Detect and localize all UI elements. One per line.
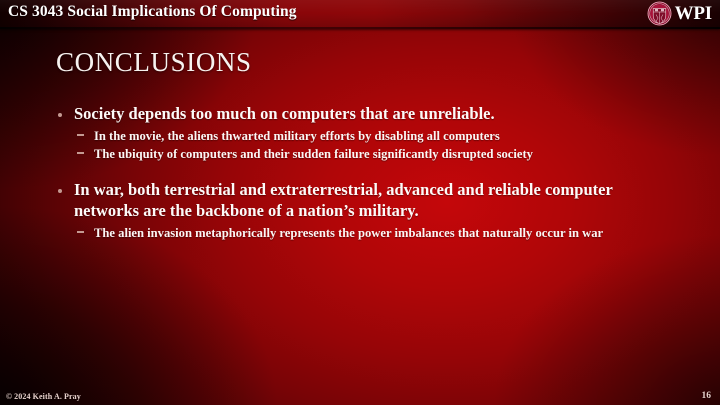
bullet-level2: In the movie, the aliens thwarted milita… xyxy=(56,128,680,145)
footer-page-number: 16 xyxy=(702,391,712,401)
slide-body: Society depends too much on computers th… xyxy=(56,104,680,251)
bullet-level2-group: In the movie, the aliens thwarted milita… xyxy=(56,128,680,162)
wpi-seal-icon xyxy=(647,1,672,26)
wpi-logo: WPI xyxy=(647,1,712,26)
bullet-level2-text: In the movie, the aliens thwarted milita… xyxy=(94,129,500,143)
bullet-level2-group: The alien invasion metaphorically repres… xyxy=(56,225,680,242)
bullet-spacer xyxy=(56,171,680,180)
presentation-slide: CS 3043 Social Implications Of Computing… xyxy=(0,0,720,405)
bullet-dash-icon xyxy=(77,134,84,136)
bullet-level1: In war, both terrestrial and extraterres… xyxy=(56,180,680,222)
bullet-level1: Society depends too much on computers th… xyxy=(56,104,680,125)
bullet-dot-icon xyxy=(58,189,62,193)
bullet-level1-text: Society depends too much on computers th… xyxy=(74,104,495,123)
bullet-level1-text: In war, both terrestrial and extraterres… xyxy=(74,180,612,220)
bullet-dot-icon xyxy=(58,113,62,117)
slide-header-bar: CS 3043 Social Implications Of Computing… xyxy=(0,0,720,29)
bullet-level2-text: The alien invasion metaphorically repres… xyxy=(94,226,603,240)
footer-copyright: © 2024 Keith A. Pray xyxy=(6,392,81,401)
bullet-dash-icon xyxy=(77,152,84,154)
bullet-level2-text: The ubiquity of computers and their sudd… xyxy=(94,147,533,161)
bullet-level2: The alien invasion metaphorically repres… xyxy=(56,225,680,242)
bullet-level2: The ubiquity of computers and their sudd… xyxy=(56,146,680,163)
course-title: CS 3043 Social Implications Of Computing xyxy=(8,3,297,21)
bullet-dash-icon xyxy=(77,231,84,233)
slide-title: CONCLUSIONS xyxy=(56,47,252,78)
wpi-wordmark: WPI xyxy=(675,4,712,23)
